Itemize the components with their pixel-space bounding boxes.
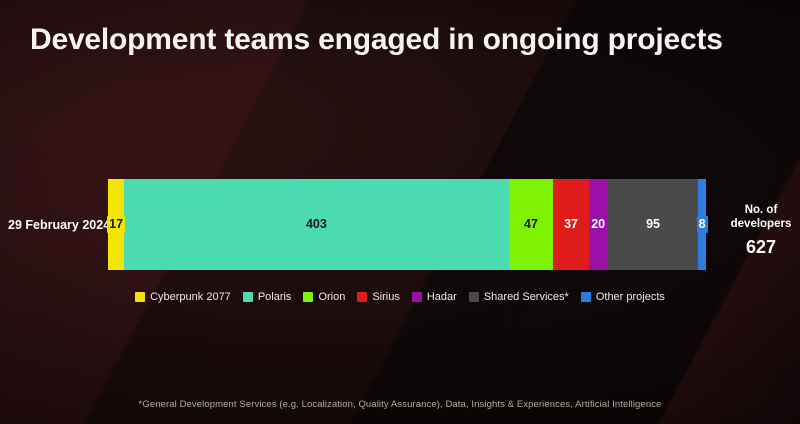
total-caption-line1: No. of — [745, 204, 778, 216]
total-value: 627 — [722, 237, 800, 258]
bar-segment[interactable]: 20 — [589, 179, 608, 270]
bar-segment[interactable]: 95 — [608, 179, 699, 270]
stacked-bar: 17403473720958 — [108, 179, 706, 270]
bar-segment[interactable]: 37 — [553, 179, 588, 270]
legend-item[interactable]: Orion — [303, 291, 345, 303]
legend-item[interactable]: Polaris — [243, 291, 292, 303]
chart-canvas: Development teams engaged in ongoing pro… — [0, 0, 800, 424]
legend-item[interactable]: Cyberpunk 2077 — [135, 291, 231, 303]
bar-segment[interactable]: 47 — [509, 179, 554, 270]
stacked-bar-chart: 29 February 2024 17403473720958 No. of d… — [0, 0, 800, 424]
legend-swatch-icon — [581, 292, 591, 302]
legend-item[interactable]: Other projects — [581, 291, 665, 303]
bar-segment-value: 8 — [697, 216, 708, 233]
legend-label: Cyberpunk 2077 — [150, 291, 231, 303]
legend-label: Polaris — [258, 291, 292, 303]
legend-label: Orion — [318, 291, 345, 303]
total-developers-block: No. of developers 627 — [722, 203, 800, 258]
bar-segment-value: 403 — [306, 218, 327, 231]
legend-item[interactable]: Sirius — [357, 291, 400, 303]
total-caption: No. of developers — [722, 203, 800, 232]
legend-label: Shared Services* — [484, 291, 569, 303]
bar-segment-value: 20 — [591, 218, 605, 231]
legend-label: Other projects — [596, 291, 665, 303]
legend-swatch-icon — [243, 292, 253, 302]
legend-swatch-icon — [135, 292, 145, 302]
footnote: *General Development Services (e.g. Loca… — [0, 399, 800, 410]
legend-item[interactable]: Shared Services* — [469, 291, 569, 303]
bar-segment-value: 95 — [646, 218, 660, 231]
bar-segment-value: 47 — [524, 218, 538, 231]
legend-swatch-icon — [469, 292, 479, 302]
total-caption-line2: developers — [731, 218, 792, 230]
bar-segment-value: 37 — [564, 218, 578, 231]
bar-segment-value: 17 — [107, 216, 125, 233]
legend-label: Sirius — [372, 291, 400, 303]
legend-label: Hadar — [427, 291, 457, 303]
bar-segment[interactable]: 17 — [108, 179, 124, 270]
bar-segment[interactable]: 403 — [124, 179, 508, 270]
legend-swatch-icon — [412, 292, 422, 302]
legend-swatch-icon — [357, 292, 367, 302]
bar-segment[interactable]: 8 — [698, 179, 706, 270]
legend-swatch-icon — [303, 292, 313, 302]
category-axis-label: 29 February 2024 — [8, 218, 104, 232]
chart-legend: Cyberpunk 2077PolarisOrionSiriusHadarSha… — [0, 291, 800, 303]
legend-item[interactable]: Hadar — [412, 291, 457, 303]
